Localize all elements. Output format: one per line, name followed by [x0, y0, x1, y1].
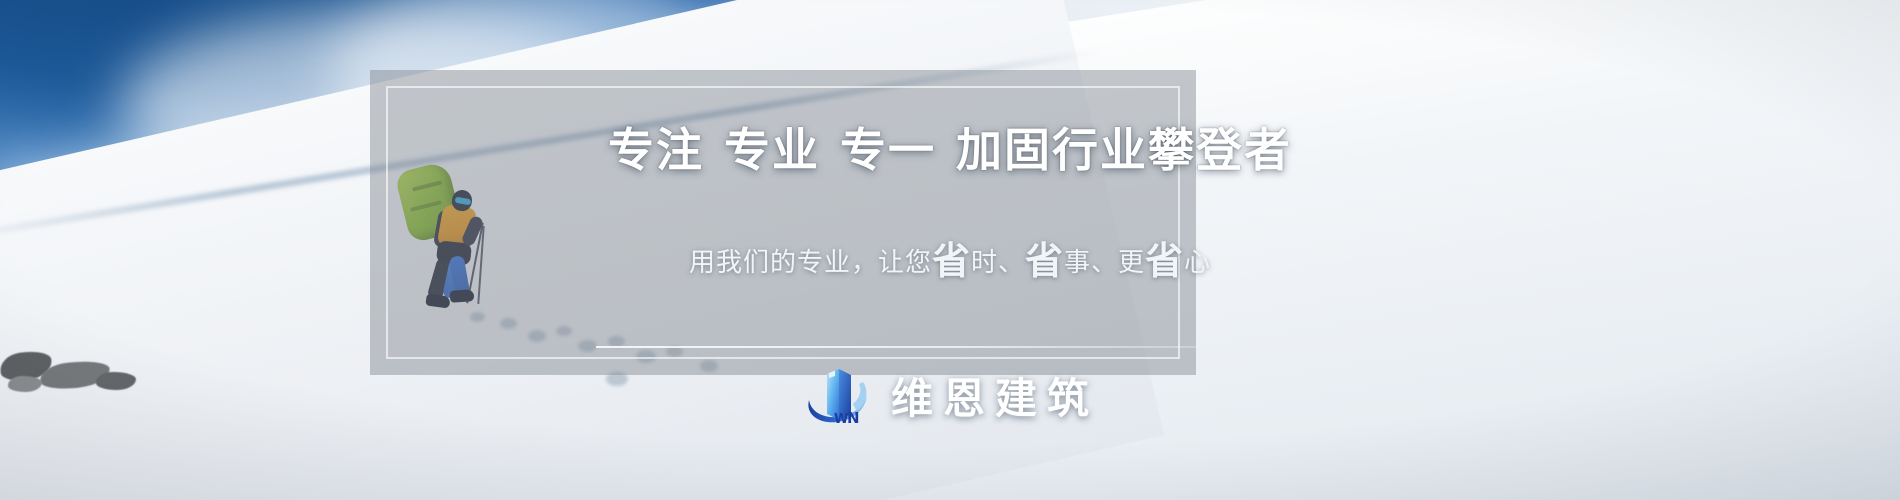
svg-text:N: N: [847, 409, 860, 426]
headline: 专注专业专一加固行业攀登者: [0, 114, 1900, 180]
headline-part-2: 专业: [724, 114, 820, 180]
headline-part-3: 专一: [840, 114, 936, 180]
subtitle-mid-1: 时、: [971, 248, 1025, 278]
brand-lockup: W N 维恩建筑: [0, 364, 1900, 426]
section-divider: [596, 346, 1196, 348]
subtitle-emphasis-2: 省: [1025, 239, 1064, 283]
subtitle: 用我们的专业，让您省时、省事、更省心: [0, 242, 1900, 279]
headline-part-4: 加固行业攀登者: [956, 114, 1292, 180]
subtitle-mid-2: 事、更: [1064, 248, 1145, 278]
wn-building-logo-icon: W N: [801, 364, 873, 426]
subtitle-suffix: 心: [1184, 248, 1211, 278]
subtitle-prefix: 用我们的专业，让您: [689, 248, 932, 278]
subtitle-emphasis-1: 省: [932, 239, 971, 283]
headline-part-1: 专注: [608, 114, 704, 180]
hero-banner: 专注专业专一加固行业攀登者 用我们的专业，让您省时、省事、更省心: [0, 0, 1900, 500]
brand-name: 维恩建筑: [891, 365, 1099, 426]
subtitle-emphasis-3: 省: [1145, 239, 1184, 283]
